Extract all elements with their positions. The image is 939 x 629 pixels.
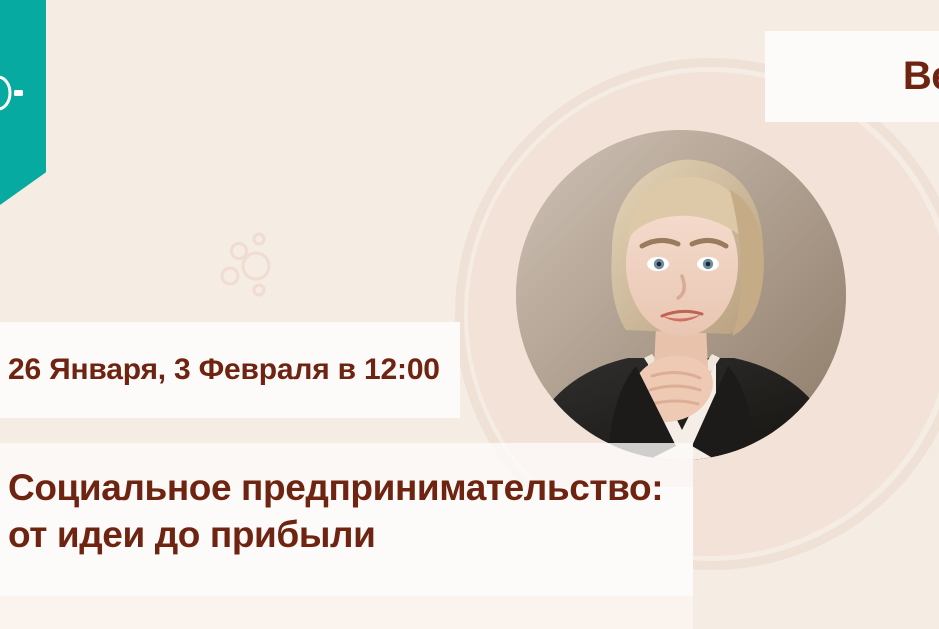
partial-brand-logo-icon [0,62,30,124]
banner-canvas: Be 26 Января, 3 Февраля в 12:00 Социальн… [0,0,939,629]
event-title-text: Социальное предпринимательство: от идеи … [8,464,688,559]
bubble-circles-icon [205,232,295,312]
event-date-text: 26 Января, 3 Февраля в 12:00 [0,353,440,387]
topright-label-text: Be [903,54,939,99]
topright-label-box: Be [765,31,939,122]
event-date-panel: 26 Января, 3 Февраля в 12:00 [0,322,460,418]
speaker-portrait [516,130,846,460]
bottom-strip [0,596,693,629]
